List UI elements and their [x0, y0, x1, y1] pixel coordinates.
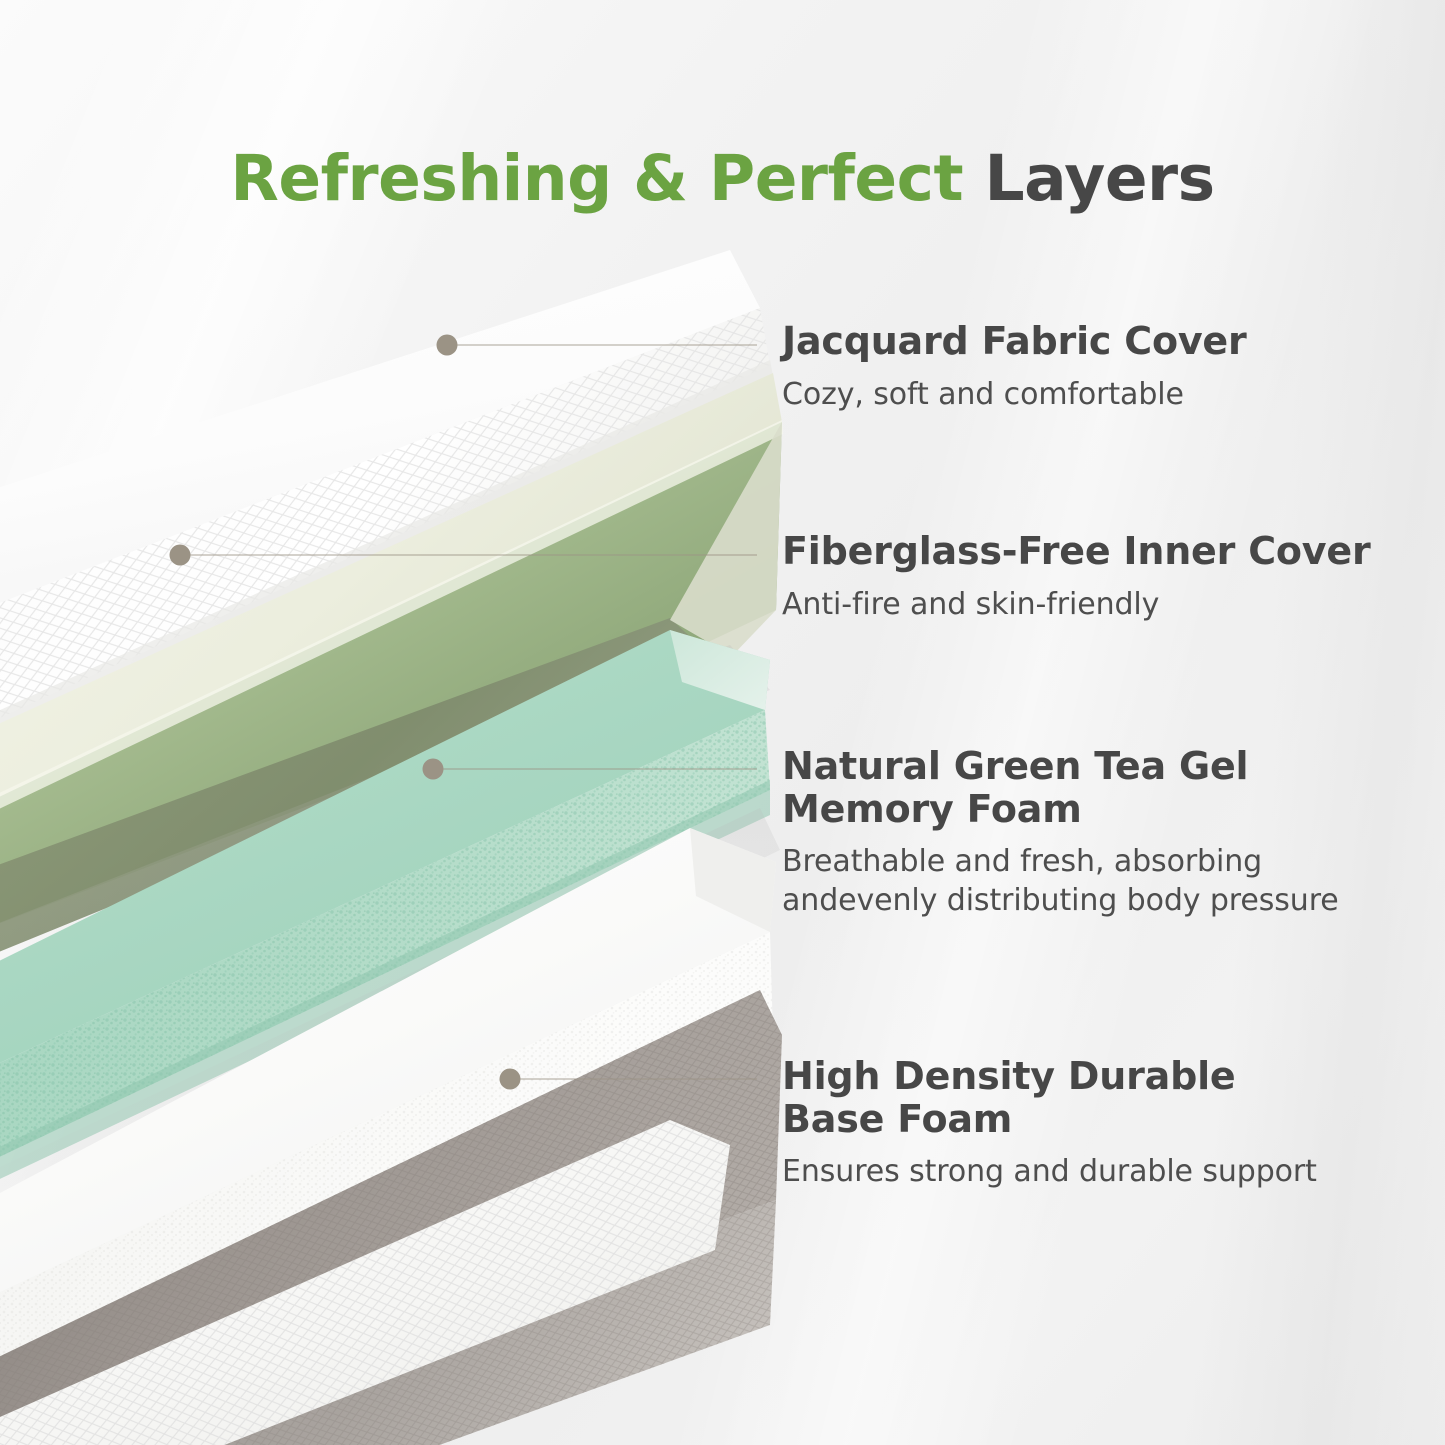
infographic-page: Refreshing & Perfect Layers	[0, 0, 1445, 1445]
feature-desc-green-tea-gel-memory-foam: Breathable and fresh, absorbing andevenl…	[782, 842, 1339, 920]
feature-title-high-density-durable-base-foam: High Density Durable Base Foam	[782, 1055, 1317, 1140]
feature-desc-high-density-durable-base-foam: Ensures strong and durable support	[782, 1152, 1317, 1191]
feature-desc-fiberglass-free-inner-cover: Anti-fire and skin-friendly	[782, 585, 1370, 624]
feature-jacquard-fabric-cover: Jacquard Fabric Cover Cozy, soft and com…	[782, 320, 1247, 414]
feature-title-jacquard-fabric-cover: Jacquard Fabric Cover	[782, 320, 1247, 363]
feature-fiberglass-free-inner-cover: Fiberglass-Free Inner Cover Anti-fire an…	[782, 530, 1370, 624]
feature-green-tea-gel-memory-foam: Natural Green Tea Gel Memory Foam Breath…	[782, 745, 1339, 920]
feature-title-green-tea-gel-memory-foam: Natural Green Tea Gel Memory Foam	[782, 745, 1339, 830]
feature-title-fiberglass-free-inner-cover: Fiberglass-Free Inner Cover	[782, 530, 1370, 573]
feature-labels: Jacquard Fabric Cover Cozy, soft and com…	[0, 0, 1445, 1445]
feature-desc-jacquard-fabric-cover: Cozy, soft and comfortable	[782, 375, 1247, 414]
feature-high-density-durable-base-foam: High Density Durable Base Foam Ensures s…	[782, 1055, 1317, 1191]
